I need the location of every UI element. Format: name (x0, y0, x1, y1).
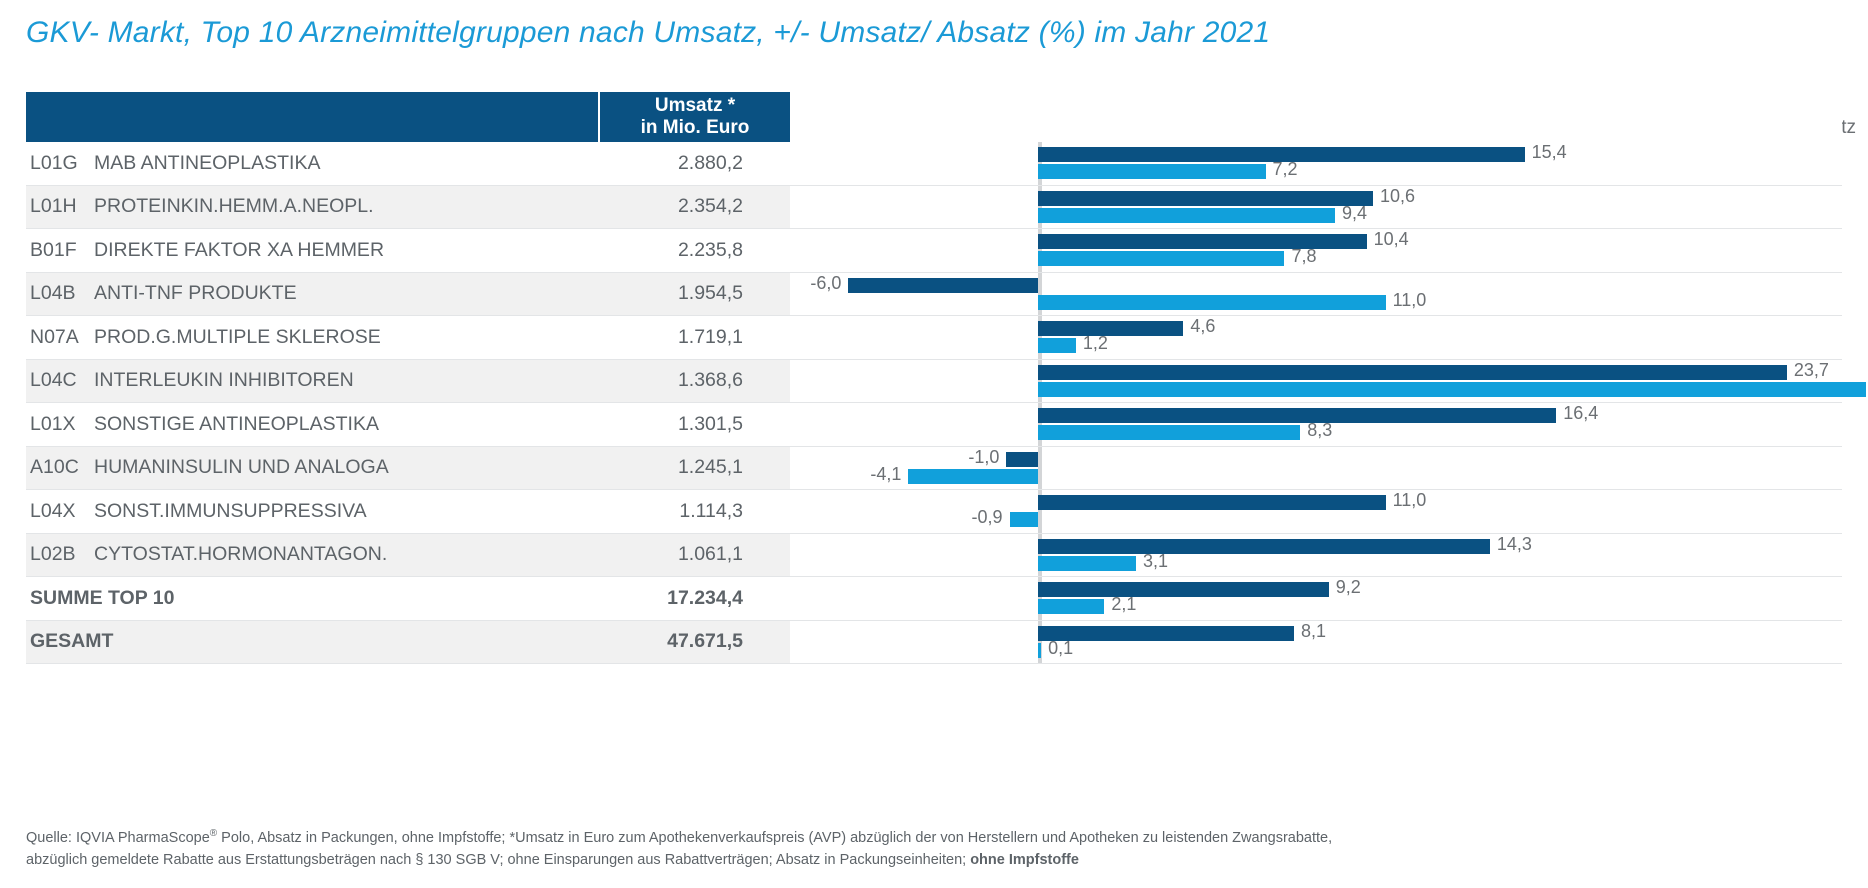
table-row[interactable]: L01GMAB ANTINEOPLASTIKA2.880,215,47,2 (26, 142, 1842, 186)
table-row[interactable]: L04CINTERLEUKIN INHIBITOREN1.368,623,726… (26, 360, 1842, 404)
cell-group-name: B01FDIREKTE FAKTOR XA HEMMER (26, 229, 600, 273)
table-row[interactable]: L04XSONST.IMMUNSUPPRESSIVA1.114,311,0-0,… (26, 490, 1842, 534)
bar-umsatz[interactable] (848, 278, 1038, 293)
bar-absatz[interactable] (1038, 251, 1284, 266)
group-label: ANTI-TNF PRODUKTE (94, 282, 297, 305)
bar-absatz[interactable] (1038, 643, 1041, 658)
atc-code: L04B (30, 282, 94, 305)
table-row[interactable]: GESAMT47.671,58,10,1 (26, 621, 1842, 665)
bar-value-label-umsatz: 9,2 (1336, 580, 1361, 595)
cell-bar-plot: 10,69,4 (790, 186, 1842, 230)
bar-group: 15,47,2 (790, 142, 1842, 185)
atc-code: L04X (30, 500, 94, 523)
cell-bar-plot: 16,48,3 (790, 403, 1842, 447)
header-cell-umsatz: Umsatz * in Mio. Euro (600, 92, 790, 142)
bar-group: 10,47,8 (790, 229, 1842, 272)
group-label: HUMANINSULIN UND ANALOGA (94, 456, 389, 479)
cell-group-name: L01HPROTEINKIN.HEMM.A.NEOPL. (26, 186, 600, 230)
table-row[interactable]: B01FDIREKTE FAKTOR XA HEMMER2.235,810,47… (26, 229, 1842, 273)
table-row[interactable]: L01XSONSTIGE ANTINEOPLASTIKA1.301,516,48… (26, 403, 1842, 447)
bar-group: 4,61,2 (790, 316, 1842, 359)
bar-value-label-absatz: 2,1 (1111, 597, 1136, 612)
cell-umsatz-mio: 1.301,5 (600, 403, 790, 447)
bar-value-label-umsatz: 16,4 (1563, 406, 1598, 421)
bar-umsatz[interactable] (1038, 582, 1329, 597)
cell-umsatz-mio: 1.719,1 (600, 316, 790, 360)
bar-value-label-umsatz: -6,0 (810, 276, 841, 291)
bar-umsatz[interactable] (1038, 539, 1490, 554)
group-label: SONST.IMMUNSUPPRESSIVA (94, 500, 367, 523)
data-table: Umsatz * in Mio. Euro L01GMAB ANTINEOPLA… (26, 92, 1842, 664)
source-footnote: Quelle: IQVIA PharmaScope® Polo, Absatz … (26, 826, 1526, 872)
footnote-line-2: abzüglich gemeldete Rabatte aus Erstattu… (26, 849, 1526, 871)
group-label: MAB ANTINEOPLASTIKA (94, 152, 320, 175)
group-label: PROD.G.MULTIPLE SKLEROSE (94, 326, 381, 349)
bar-group: 14,33,1 (790, 534, 1842, 577)
bar-value-label-umsatz: 8,1 (1301, 624, 1326, 639)
cell-umsatz-mio: 1.114,3 (600, 490, 790, 534)
table-row[interactable]: L04BANTI-TNF PRODUKTE1.954,5-6,011,0 (26, 273, 1842, 317)
table-row[interactable]: L02BCYTOSTAT.HORMONANTAGON.1.061,114,33,… (26, 534, 1842, 578)
atc-code: L01G (30, 152, 94, 175)
bar-value-label-absatz: 3,1 (1143, 554, 1168, 569)
footnote-line-1: Quelle: IQVIA PharmaScope® Polo, Absatz … (26, 826, 1526, 849)
bar-absatz[interactable] (1038, 338, 1076, 353)
table-row[interactable]: SUMME TOP 1017.234,49,22,1 (26, 577, 1842, 621)
cell-group-name: L01XSONSTIGE ANTINEOPLASTIKA (26, 403, 600, 447)
footnote-line2-a: abzüglich gemeldete Rabatte aus Erstattu… (26, 852, 970, 868)
cell-group-name: A10CHUMANINSULIN UND ANALOGA (26, 447, 600, 491)
group-label: SONSTIGE ANTINEOPLASTIKA (94, 413, 379, 436)
bar-absatz[interactable] (1038, 599, 1104, 614)
cell-group-name: GESAMT (26, 621, 600, 665)
cell-group-name: SUMME TOP 10 (26, 577, 600, 621)
bar-value-label-umsatz: 14,3 (1497, 537, 1532, 552)
atc-code: L01X (30, 413, 94, 436)
table-row[interactable]: A10CHUMANINSULIN UND ANALOGA1.245,1-1,0-… (26, 447, 1842, 491)
bar-absatz[interactable] (1038, 295, 1386, 310)
bar-value-label-absatz: 11,0 (1393, 293, 1427, 308)
bar-group: 23,726,2 (790, 360, 1842, 403)
atc-code: L02B (30, 543, 94, 566)
atc-code: B01F (30, 239, 94, 262)
group-label: INTERLEUKIN INHIBITOREN (94, 369, 354, 392)
bar-value-label-absatz: 8,3 (1307, 423, 1332, 438)
atc-code: L01H (30, 195, 94, 218)
group-label: CYTOSTAT.HORMONANTAGON. (94, 543, 387, 566)
footnote-line1-b: Polo, Absatz in Packungen, ohne Impfstof… (217, 830, 1332, 846)
bar-group: 10,69,4 (790, 186, 1842, 229)
page-title: GKV- Markt, Top 10 Arzneimittelgruppen n… (26, 16, 1270, 50)
bar-umsatz[interactable] (1038, 365, 1787, 380)
atc-code: N07A (30, 326, 94, 349)
cell-umsatz-mio: 17.234,4 (600, 577, 790, 621)
group-label: DIREKTE FAKTOR XA HEMMER (94, 239, 384, 262)
cell-group-name: L04CINTERLEUKIN INHIBITOREN (26, 360, 600, 404)
group-label: PROTEINKIN.HEMM.A.NEOPL. (94, 195, 374, 218)
bar-value-label-umsatz: 4,6 (1190, 319, 1215, 334)
cell-umsatz-mio: 1.245,1 (600, 447, 790, 491)
bar-group: -6,011,0 (790, 273, 1842, 316)
footnote-line2-bold: ohne Impfstoffe (970, 852, 1079, 868)
cell-group-name: L02BCYTOSTAT.HORMONANTAGON. (26, 534, 600, 578)
bar-group: -1,0-4,1 (790, 447, 1842, 490)
group-label: GESAMT (30, 630, 113, 653)
bar-absatz[interactable] (1038, 556, 1136, 571)
bar-umsatz[interactable] (1038, 234, 1367, 249)
cell-umsatz-mio: 2.880,2 (600, 142, 790, 186)
cell-bar-plot: 8,10,1 (790, 621, 1842, 665)
bar-group: 9,22,1 (790, 577, 1842, 620)
cell-bar-plot: 23,726,2 (790, 360, 1842, 404)
bar-umsatz[interactable] (1038, 408, 1556, 423)
table-row[interactable]: N07APROD.G.MULTIPLE SKLEROSE1.719,14,61,… (26, 316, 1842, 360)
cell-bar-plot: 10,47,8 (790, 229, 1842, 273)
bar-value-label-absatz: 9,4 (1342, 206, 1367, 221)
bar-value-label-absatz: -4,1 (870, 467, 901, 482)
table-body: L01GMAB ANTINEOPLASTIKA2.880,215,47,2L01… (26, 142, 1842, 664)
bar-value-label-absatz: 7,2 (1273, 162, 1298, 177)
cell-bar-plot: 15,47,2 (790, 142, 1842, 186)
bar-group: 11,0-0,9 (790, 490, 1842, 533)
header-cell-plot (790, 92, 1842, 142)
bar-value-label-umsatz: 10,6 (1380, 189, 1415, 204)
bar-absatz[interactable] (1010, 512, 1038, 527)
cell-group-name: L04XSONST.IMMUNSUPPRESSIVA (26, 490, 600, 534)
bar-value-label-umsatz: 11,0 (1393, 493, 1427, 508)
cell-bar-plot: -1,0-4,1 (790, 447, 1842, 491)
cell-bar-plot: 9,22,1 (790, 577, 1842, 621)
bar-value-label-umsatz: 10,4 (1374, 232, 1409, 247)
cell-umsatz-mio: 1.061,1 (600, 534, 790, 578)
cell-umsatz-mio: 1.954,5 (600, 273, 790, 317)
atc-code: L04C (30, 369, 94, 392)
bar-group: 16,48,3 (790, 403, 1842, 446)
bar-value-label-umsatz: 23,7 (1794, 363, 1829, 378)
cell-bar-plot: 11,0-0,9 (790, 490, 1842, 534)
cell-bar-plot: 4,61,2 (790, 316, 1842, 360)
bar-absatz[interactable] (1038, 164, 1266, 179)
cell-umsatz-mio: 2.235,8 (600, 229, 790, 273)
cell-umsatz-mio: 1.368,6 (600, 360, 790, 404)
bar-value-label-absatz: 0,1 (1048, 641, 1073, 656)
cell-group-name: L04BANTI-TNF PRODUKTE (26, 273, 600, 317)
bar-value-label-absatz: -0,9 (972, 510, 1003, 525)
bar-group: 8,10,1 (790, 621, 1842, 664)
cell-group-name: L01GMAB ANTINEOPLASTIKA (26, 142, 600, 186)
header-umsatz-line2: in Mio. Euro (641, 117, 750, 139)
bar-value-label-umsatz: -1,0 (968, 450, 999, 465)
bar-absatz[interactable] (908, 469, 1038, 484)
bar-absatz[interactable] (1038, 208, 1335, 223)
bar-umsatz[interactable] (1038, 191, 1373, 206)
footnote-line1-a: Quelle: IQVIA PharmaScope (26, 830, 210, 846)
cell-umsatz-mio: 47.671,5 (600, 621, 790, 665)
bar-absatz[interactable] (1038, 382, 1866, 397)
bar-absatz[interactable] (1038, 425, 1300, 440)
atc-code: A10C (30, 456, 94, 479)
bar-value-label-absatz: 7,8 (1291, 249, 1316, 264)
cell-umsatz-mio: 2.354,2 (600, 186, 790, 230)
bar-umsatz[interactable] (1038, 321, 1183, 336)
cell-bar-plot: 14,33,1 (790, 534, 1842, 578)
header-umsatz-line1: Umsatz * (655, 95, 735, 117)
table-header-row: Umsatz * in Mio. Euro (26, 92, 1842, 142)
bar-umsatz[interactable] (1038, 626, 1294, 641)
bar-umsatz[interactable] (1006, 452, 1038, 467)
table-row[interactable]: L01HPROTEINKIN.HEMM.A.NEOPL.2.354,210,69… (26, 186, 1842, 230)
cell-group-name: N07APROD.G.MULTIPLE SKLEROSE (26, 316, 600, 360)
group-label: SUMME TOP 10 (30, 587, 175, 610)
bar-value-label-umsatz: 15,4 (1532, 145, 1567, 160)
cell-bar-plot: -6,011,0 (790, 273, 1842, 317)
header-cell-group (26, 92, 600, 142)
bar-value-label-absatz: 1,2 (1083, 336, 1108, 351)
bar-umsatz[interactable] (1038, 495, 1386, 510)
